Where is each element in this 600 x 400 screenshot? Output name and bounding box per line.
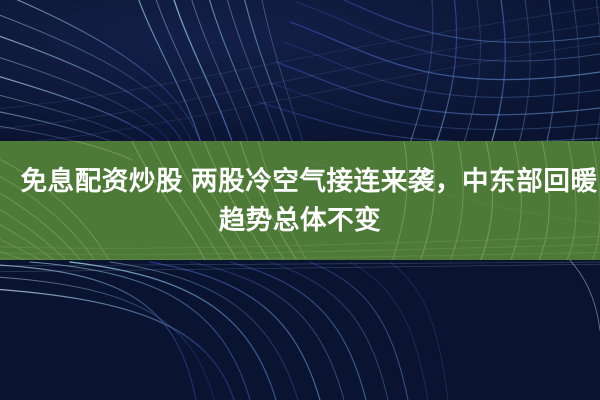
page-title: 免息配资炒股 两股冷空气接连来袭，中东部回暖 趋势总体不变 — [0, 141, 600, 260]
headline-band: 免息配资炒股 两股冷空气接连来袭，中东部回暖 趋势总体不变 — [0, 141, 600, 260]
headline-line-2: 趋势总体不变 — [20, 201, 580, 240]
headline-line-1: 免息配资炒股 两股冷空气接连来袭，中东部回暖 — [20, 162, 581, 201]
article-banner: 免息配资炒股 两股冷空气接连来袭，中东部回暖 趋势总体不变 — [0, 0, 600, 400]
